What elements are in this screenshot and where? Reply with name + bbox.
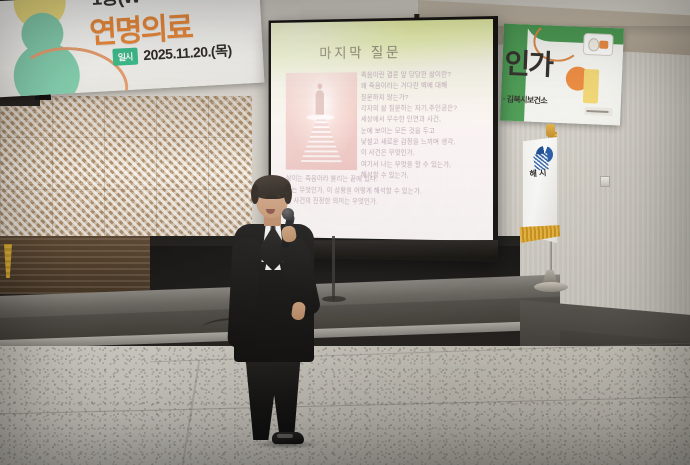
flag-text: 해 시 bbox=[523, 167, 554, 180]
flag-finial bbox=[546, 124, 555, 137]
speaker-shoe bbox=[272, 432, 304, 444]
poster-headline: 인가 bbox=[504, 42, 553, 84]
slide-body-line: 질문하지 않는가? bbox=[361, 92, 483, 104]
slide-body-line: 각자의 삶 질문하는 자기,주인공은? bbox=[361, 103, 483, 115]
speaker-person bbox=[232, 178, 336, 446]
speaker-arm-left bbox=[227, 237, 261, 348]
wood-wainscot-grain bbox=[0, 236, 150, 294]
poster-logo bbox=[584, 107, 612, 116]
slide-body-text: 죽음이란 결론 앞 당당한 삶이란? 왜 죽음이라는 거다란 벽에 대해 질문하… bbox=[361, 69, 483, 182]
slide-body-line: 세상에서 무수한 인연과 사건, bbox=[361, 114, 483, 125]
slide-photo-figure bbox=[316, 90, 324, 115]
banner-date-badge: 일시 bbox=[112, 47, 137, 65]
poster-subtext: · 김북시보건소 bbox=[503, 94, 548, 107]
slide-photo bbox=[286, 72, 357, 170]
slide-body-line: 죽음이란 결론 앞 당당한 삶이란? bbox=[361, 69, 483, 81]
slide-body-line: 눈에 보이는 모든 것을 두고 bbox=[361, 126, 483, 137]
speaker-eye-right bbox=[276, 195, 281, 197]
speaker-eye-left bbox=[261, 195, 266, 197]
banner-date-text: 2025.11.20.(목) bbox=[143, 40, 232, 65]
photo-scene: 1층(W 연명의료 일시 2025.11.20.(목) 인가 · 김북시보건소 … bbox=[0, 0, 690, 465]
slide-title: 마지막 질문 bbox=[319, 42, 401, 63]
speaker-trousers bbox=[244, 354, 302, 440]
slide-body-line: 왜 죽음이라는 거다란 벽에 대해 bbox=[361, 80, 483, 92]
poster-rect-yellow bbox=[583, 69, 599, 104]
slide-body-line: 낯설고 새로운 감정을 느끼며 생각, bbox=[361, 137, 483, 148]
slide-photo-stairs bbox=[301, 119, 342, 162]
event-banner-right: 인가 · 김북시보건소 bbox=[500, 24, 624, 126]
event-banner-left: 1층(W 연명의료 일시 2025.11.20.(목) bbox=[0, 0, 264, 97]
wall-outlet-plate bbox=[600, 176, 610, 187]
poster-mascot-icon bbox=[583, 33, 614, 56]
slide-body-line: 여기서 나는 무엇을 할 수 있는가, bbox=[361, 159, 483, 171]
slide-body-line: 이 사건은 무엇인가, bbox=[361, 148, 483, 160]
flag-stand-base bbox=[534, 282, 568, 292]
